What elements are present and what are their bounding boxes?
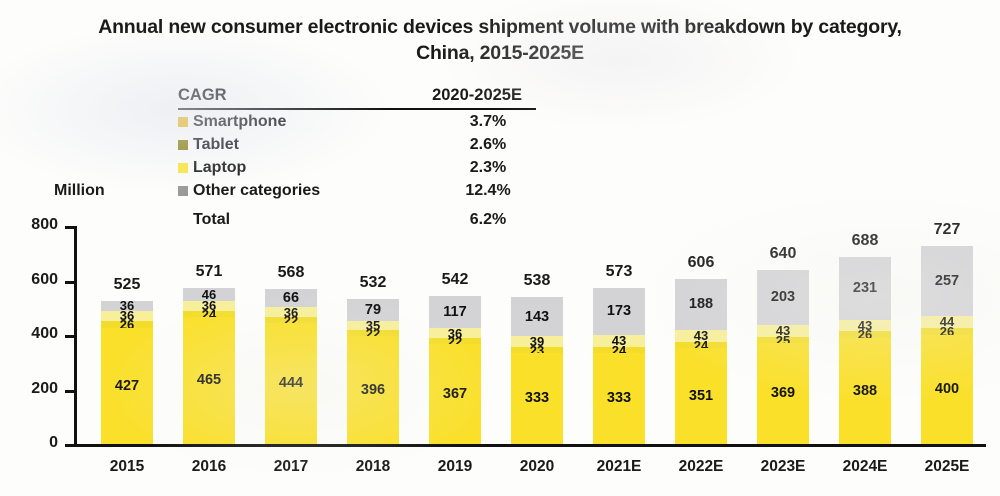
bar-group: 3636264275254636244655716636224445687935… <box>77 226 986 444</box>
y-axis-tick-label: 0 <box>12 434 58 452</box>
y-axis-tick <box>65 226 75 229</box>
bar-segment: 333 <box>593 353 645 444</box>
bar-segment: 465 <box>183 317 235 444</box>
bar-segment: 143 <box>511 297 563 336</box>
legend-swatch-icon <box>178 140 188 150</box>
y-axis-tick-label: 200 <box>12 380 58 398</box>
bar-column: 363626427525 <box>101 226 153 444</box>
bar-stack: 363626427 <box>101 301 153 444</box>
cagr-row: Laptop2.3% <box>178 156 536 179</box>
bar-column: 463624465571 <box>183 226 235 444</box>
bar-segment-value: 188 <box>689 297 713 312</box>
x-axis-category-label: 2021E <box>579 458 659 476</box>
bar-segment-value: 400 <box>935 382 959 397</box>
cagr-legend-table: CAGR 2020-2025E Smartphone3.7%Tablet2.6%… <box>178 86 536 231</box>
y-axis-unit-label: Million <box>54 182 105 200</box>
bar-segment: 231 <box>839 257 891 320</box>
bar-segment: 257 <box>921 246 973 316</box>
bar-segment-value: 79 <box>365 303 381 318</box>
x-axis-category-label: 2015 <box>87 458 167 476</box>
bar-segment-value: 117 <box>443 305 466 320</box>
bar-stack: 2574426400 <box>921 246 973 444</box>
bar-stack: 1173622367 <box>429 296 481 444</box>
x-axis-category-label: 2018 <box>333 458 413 476</box>
bar-total-label: 573 <box>606 263 633 281</box>
cagr-header-left: CAGR <box>178 86 227 105</box>
bar-column: 2034325369640 <box>757 226 809 444</box>
bar-segment-value: 203 <box>771 290 795 305</box>
bar-segment: 388 <box>839 338 891 444</box>
bar-segment: 188 <box>675 279 727 330</box>
chart-figure: Annual new consumer electronic devices s… <box>0 0 1000 496</box>
bar-stack: 2314326388 <box>839 257 891 444</box>
bar-stack: 463624465 <box>183 288 235 444</box>
cagr-row-label: Tablet <box>193 136 440 154</box>
bar-stack: 793522396 <box>347 299 399 444</box>
cagr-row-value: 12.4% <box>440 182 536 200</box>
plot-area: 3636264275254636244655716636224445687935… <box>74 226 986 444</box>
bar-segment: 351 <box>675 348 727 444</box>
x-axis-line <box>74 444 986 447</box>
cagr-row-value: 2.6% <box>440 136 536 154</box>
chart-title: Annual new consumer electronic devices s… <box>96 14 904 66</box>
bar-segment: 333 <box>511 353 563 444</box>
cagr-row: Tablet2.6% <box>178 133 536 156</box>
legend-swatch-icon <box>178 117 188 127</box>
bar-total-label: 568 <box>278 264 305 282</box>
bar-segment-value: 396 <box>361 383 385 398</box>
bar-segment-value: 333 <box>607 391 631 406</box>
bar-total-label: 538 <box>524 272 551 290</box>
cagr-row-label: Laptop <box>193 159 440 177</box>
y-axis-tick <box>65 390 75 393</box>
bar-column: 1433923333538 <box>511 226 563 444</box>
bar-stack: 1734324333 <box>593 288 645 444</box>
bar-total-label: 640 <box>770 245 797 263</box>
bar-segment: 117 <box>429 296 481 328</box>
y-axis-tick <box>65 444 75 447</box>
bar-segment: 26 <box>921 328 973 335</box>
x-axis-category-label: 2022E <box>661 458 741 476</box>
cagr-row-value: 2.3% <box>440 159 536 177</box>
bar-total-label: 532 <box>360 274 387 292</box>
bar-column: 1884324351606 <box>675 226 727 444</box>
bar-column: 2314326388688 <box>839 226 891 444</box>
bar-segment-value: 173 <box>607 304 631 319</box>
cagr-row: Smartphone3.7% <box>178 110 536 133</box>
x-axis-category-label: 2020 <box>497 458 577 476</box>
cagr-header-right: 2020-2025E <box>432 86 536 105</box>
cagr-row-label: Smartphone <box>193 113 440 131</box>
cagr-row-list: Smartphone3.7%Tablet2.6%Laptop2.3%Other … <box>178 110 536 202</box>
x-axis-category-label: 2025E <box>907 458 987 476</box>
bar-segment: 369 <box>757 343 809 444</box>
bar-segment-value: 369 <box>771 386 795 401</box>
bar-column: 663622444568 <box>265 226 317 444</box>
bar-total-label: 606 <box>688 254 715 272</box>
bar-total-label: 525 <box>114 276 141 294</box>
bar-segment: 26 <box>839 331 891 338</box>
bar-column: 793522396532 <box>347 226 399 444</box>
bar-segment: 26 <box>101 321 153 328</box>
bar-column: 2574426400727 <box>921 226 973 444</box>
bar-total-label: 727 <box>934 221 961 239</box>
y-axis-tick-label: 800 <box>12 216 58 234</box>
bar-segment-value: 351 <box>689 389 713 404</box>
cagr-row-label: Other categories <box>193 182 440 200</box>
x-axis-category-label: 2024E <box>825 458 905 476</box>
bar-total-label: 688 <box>852 232 879 250</box>
bar-segment: 400 <box>921 335 973 444</box>
x-axis-category-label: 2023E <box>743 458 823 476</box>
bar-stack: 2034325369 <box>757 270 809 444</box>
bar-segment: 25 <box>757 337 809 344</box>
bar-segment-value: 231 <box>853 281 877 296</box>
y-axis-tick-label: 600 <box>12 271 58 289</box>
x-axis-category-label: 2016 <box>169 458 249 476</box>
bar-segment-value: 427 <box>115 379 139 394</box>
bar-column: 1173622367542 <box>429 226 481 444</box>
bar-segment-value: 143 <box>525 310 549 325</box>
bar-stack: 1884324351 <box>675 279 727 444</box>
legend-swatch-icon <box>178 163 188 173</box>
y-axis-tick-labels: 0200400600800 <box>12 226 58 444</box>
y-axis-tick <box>65 281 75 284</box>
bar-column: 1734324333573 <box>593 226 645 444</box>
bar-segment-value: 444 <box>279 376 303 391</box>
bar-segment-value: 66 <box>283 291 299 306</box>
y-axis-tick-label: 400 <box>12 325 58 343</box>
cagr-row: Other categories12.4% <box>178 179 536 202</box>
bar-segment: 444 <box>265 323 317 444</box>
x-axis-category-label: 2019 <box>415 458 495 476</box>
cagr-row-value: 3.7% <box>440 113 536 131</box>
bar-stack: 663622444 <box>265 289 317 444</box>
y-axis-tick <box>65 335 75 338</box>
bar-stack: 1433923333 <box>511 297 563 444</box>
bar-total-label: 542 <box>442 271 469 289</box>
x-axis-category-label: 2017 <box>251 458 331 476</box>
legend-swatch-icon <box>178 186 188 196</box>
bar-segment: 203 <box>757 270 809 325</box>
bar-segment: 367 <box>429 344 481 444</box>
bar-total-label: 571 <box>196 263 223 281</box>
bar-segment: 427 <box>101 328 153 444</box>
bar-segment-value: 367 <box>443 387 467 402</box>
cagr-table-header: CAGR 2020-2025E <box>178 86 536 110</box>
bar-segment-value: 257 <box>935 274 959 289</box>
bar-segment-value: 465 <box>197 373 221 388</box>
bar-segment: 173 <box>593 288 645 335</box>
bar-segment: 396 <box>347 336 399 444</box>
bar-segment-value: 333 <box>525 391 549 406</box>
bar-segment-value: 388 <box>853 384 877 399</box>
